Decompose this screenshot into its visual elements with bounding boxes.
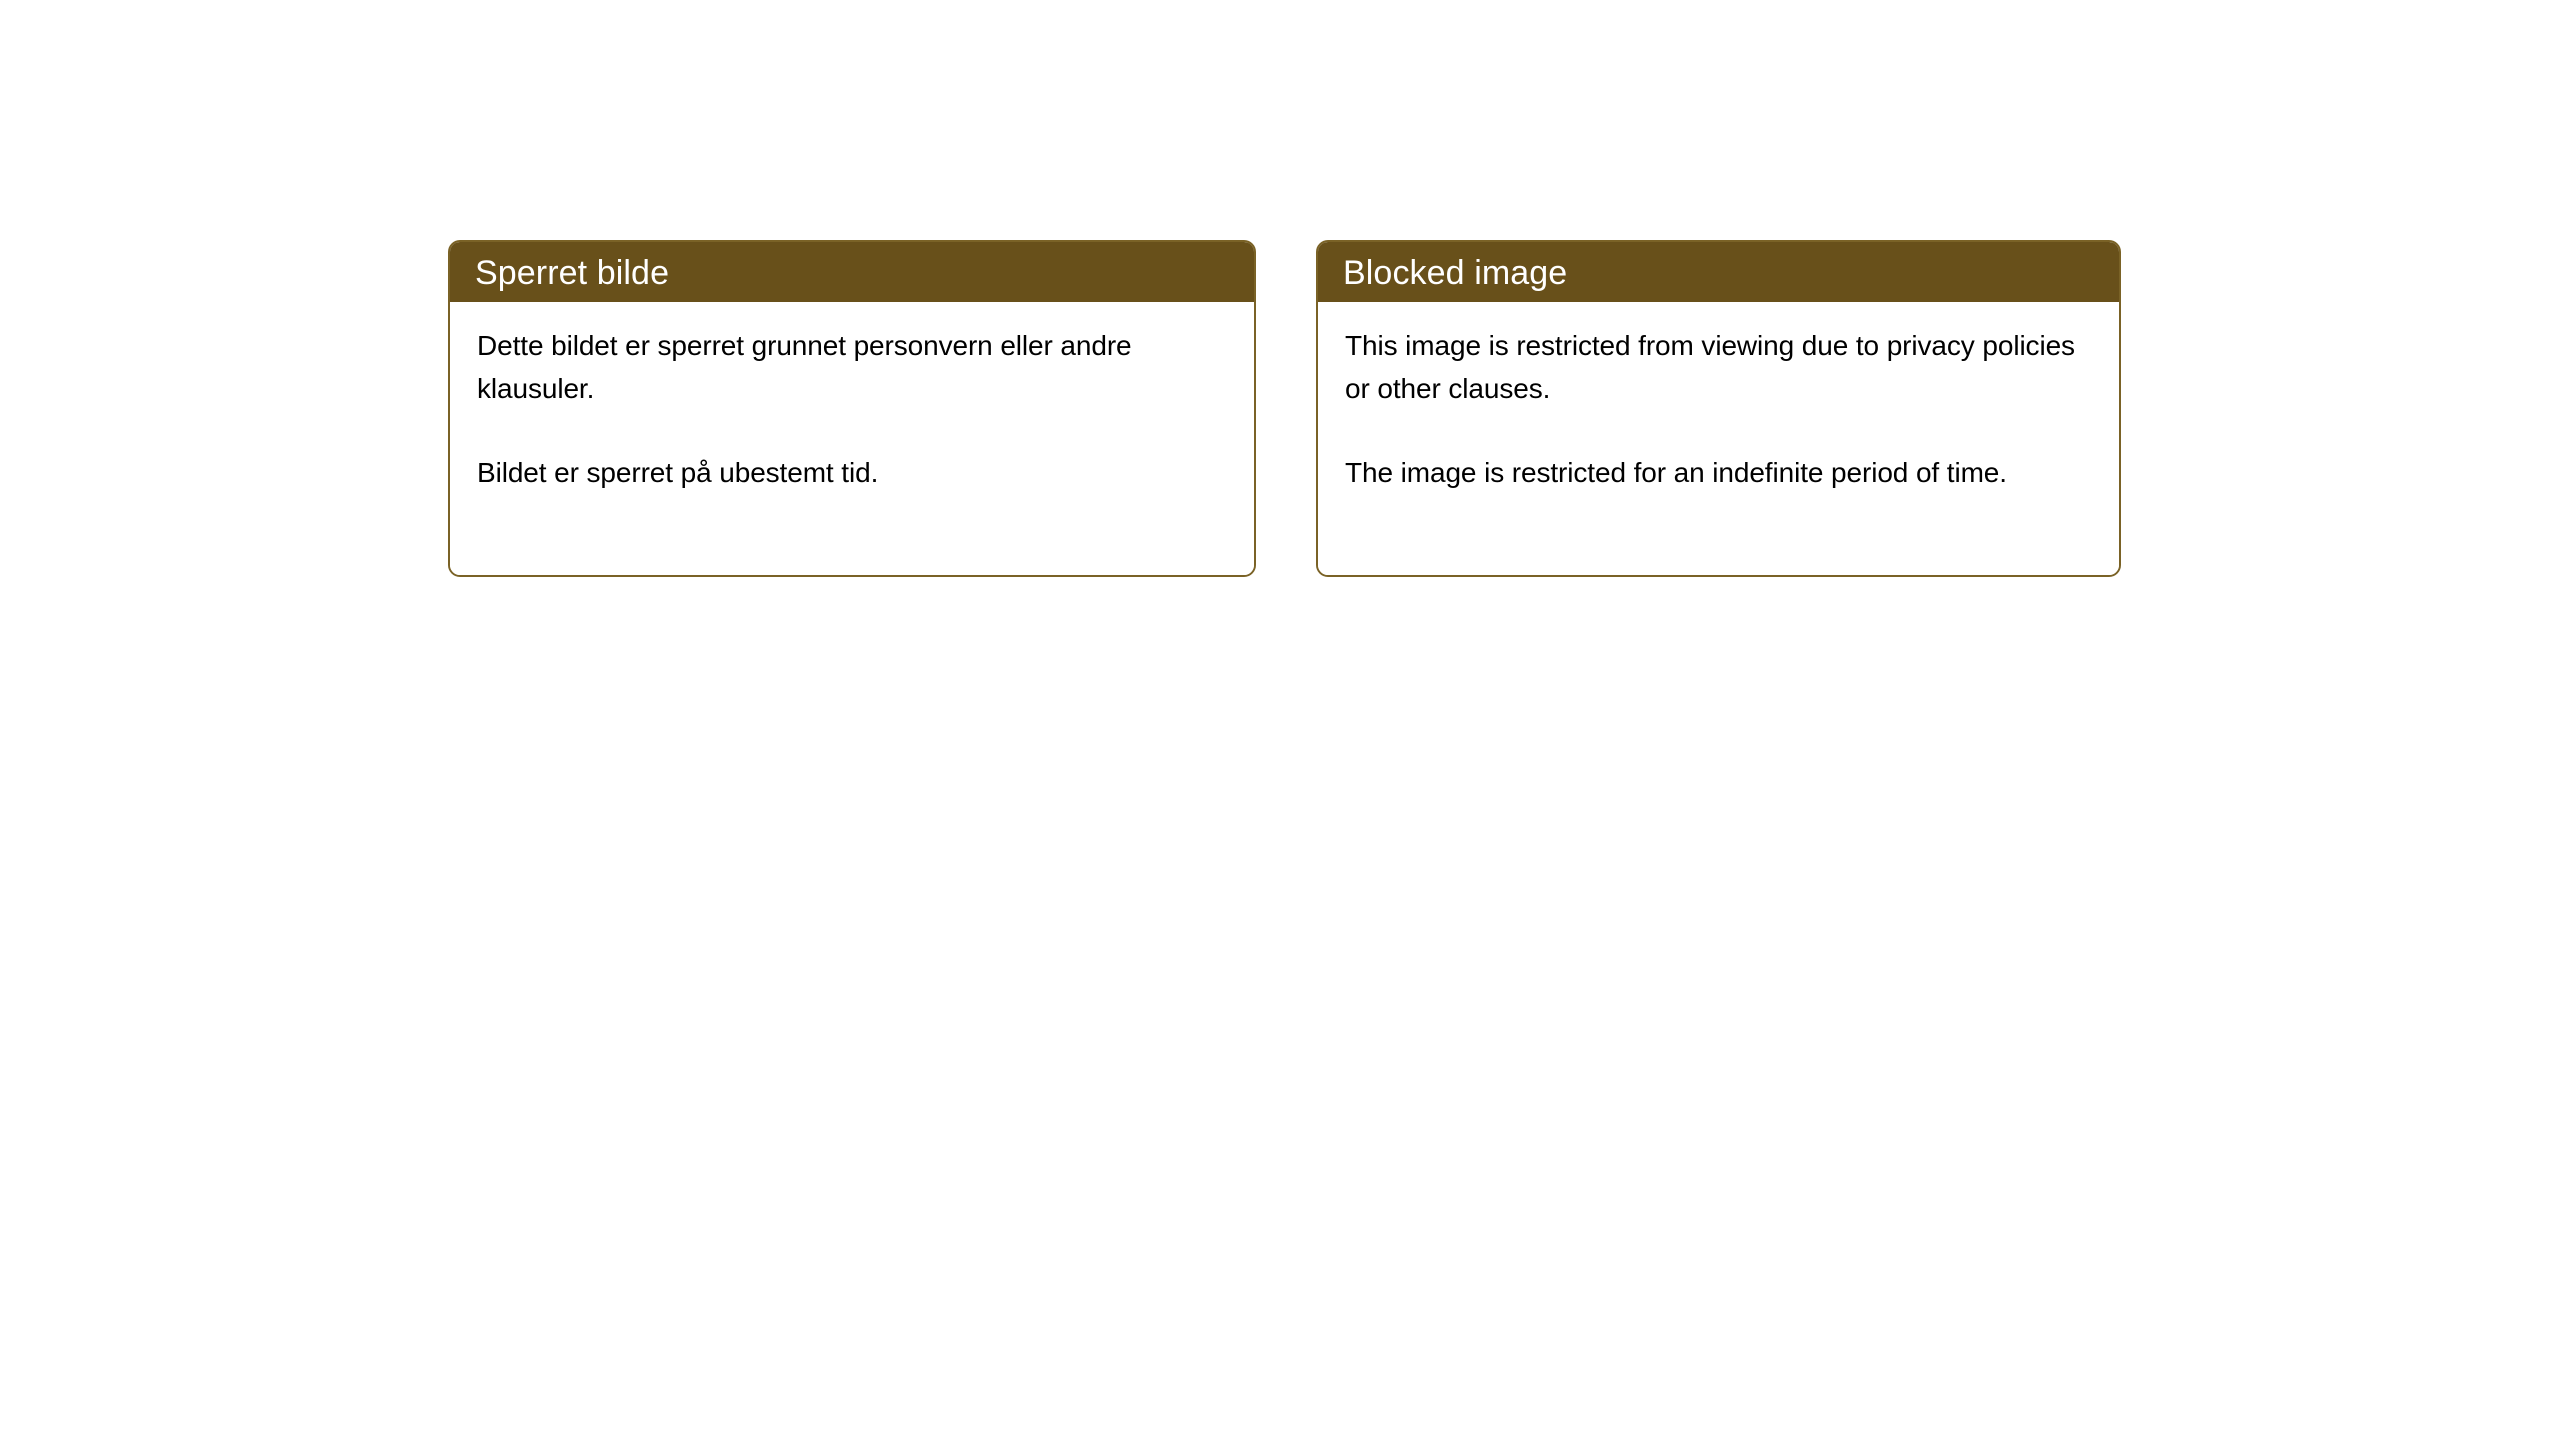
blocked-image-notice-area: Sperret bilde Dette bildet er sperret gr…: [448, 240, 2121, 577]
card-paragraph-no-2: Bildet er sperret på ubestemt tid.: [477, 451, 1230, 494]
card-title-en: Blocked image: [1318, 242, 2119, 302]
card-body-en: This image is restricted from viewing du…: [1318, 302, 2119, 575]
blocked-image-card-en: Blocked image This image is restricted f…: [1316, 240, 2121, 577]
blocked-image-card-no: Sperret bilde Dette bildet er sperret gr…: [448, 240, 1256, 577]
card-body-no: Dette bildet er sperret grunnet personve…: [450, 302, 1254, 575]
card-title-no: Sperret bilde: [450, 242, 1254, 302]
card-paragraph-no-1: Dette bildet er sperret grunnet personve…: [477, 324, 1230, 410]
card-paragraph-en-2: The image is restricted for an indefinit…: [1345, 451, 2095, 494]
card-paragraph-en-1: This image is restricted from viewing du…: [1345, 324, 2095, 410]
